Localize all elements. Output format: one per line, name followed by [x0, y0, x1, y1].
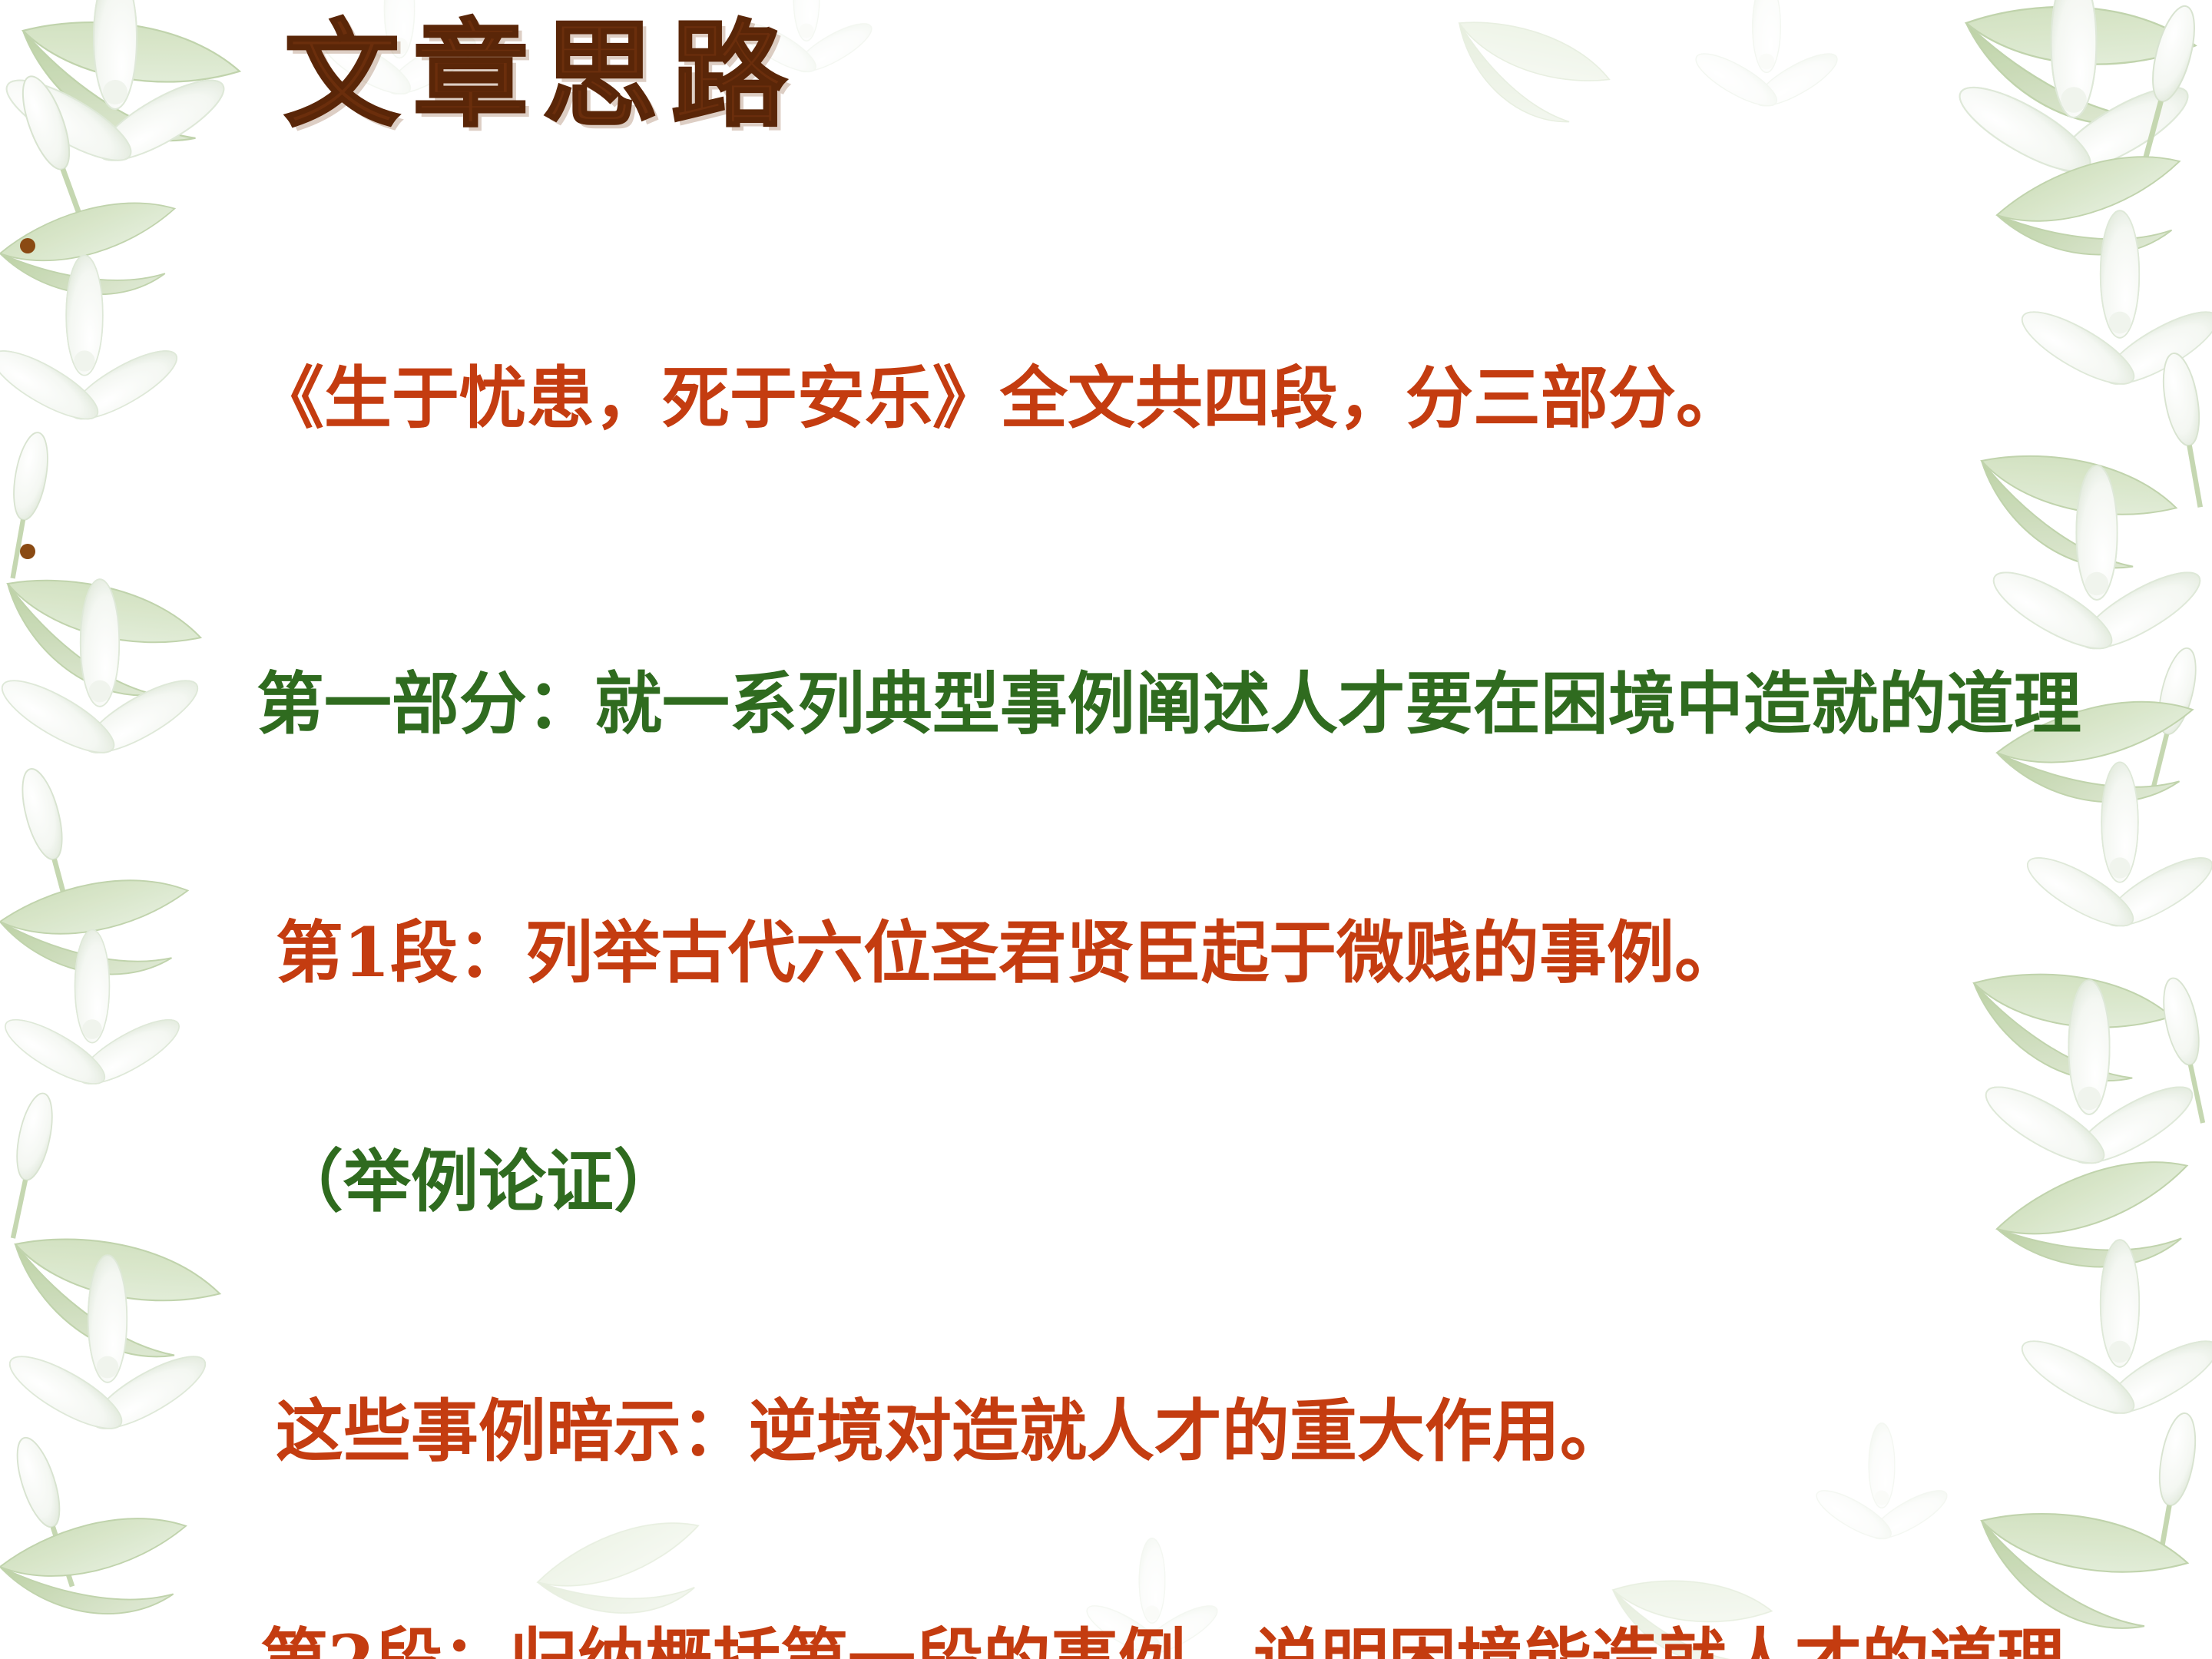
- spacer: [0, 1296, 2212, 1316]
- page-title: 文章思路: [284, 15, 800, 137]
- text-line-3-text: 第1段：列举古代六位圣君贤臣起于微贱的事例。: [276, 912, 1742, 992]
- slide-canvas: 文章思路 《生于忧患，死于安乐》全文共四段，分三部分。 第一部分：就一系列典型事…: [0, 0, 2212, 1659]
- spacer: [0, 819, 2212, 839]
- bullet-line-2: 第一部分：就一系列典型事例阐述人才要在困境中造就的道理: [0, 513, 2212, 819]
- bullet-dot-icon: [20, 238, 35, 253]
- bullet-line-1-text: 《生于忧患，死于安乐》全文共四段，分三部分。: [257, 358, 1743, 438]
- text-line-3: 第1段：列举古代六位圣君贤臣起于微贱的事例。: [0, 839, 2212, 1068]
- slide-body: 《生于忧患，死于安乐》全文共四段，分三部分。 第一部分：就一系列典型事例阐述人才…: [0, 207, 2212, 1659]
- text-line-6-text: 第2段：归纳概括第一段的事例。说明困境能造就人才的道理。: [260, 1620, 2132, 1659]
- bullet-dot-icon: [20, 544, 35, 559]
- bullet-line-2-text: 第一部分：就一系列典型事例阐述人才要在困境中造就的道理: [257, 664, 2081, 743]
- text-line-4-text: （举例论证）: [276, 1141, 681, 1221]
- text-line-6: 第2段：归纳概括第一段的事例。说明困境能造就人才的道理。（道理论证）: [0, 1545, 2212, 1659]
- text-line-5-text: 这些事例暗示：逆境对造就人才的重大作用。: [276, 1391, 1628, 1471]
- text-line-4: （举例论证）: [0, 1068, 2212, 1296]
- bullet-line-1: 《生于忧患，死于安乐》全文共四段，分三部分。: [0, 207, 2212, 513]
- text-line-5: 这些事例暗示：逆境对造就人才的重大作用。: [0, 1316, 2212, 1545]
